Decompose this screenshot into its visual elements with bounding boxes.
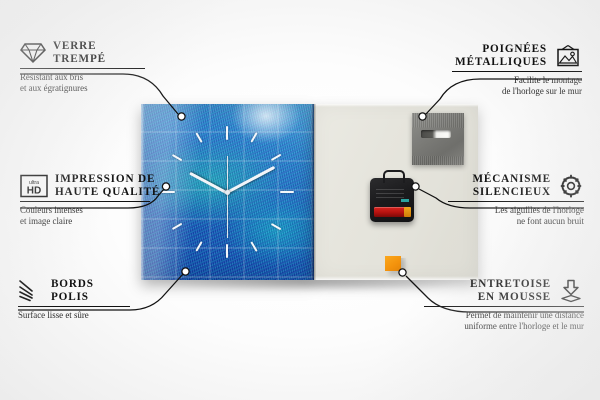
callout-sub-line1: Surface lisse et sûre	[18, 310, 130, 321]
callout-rule	[448, 201, 584, 202]
callout-header: ultra HD IMPRESSION DE HAUTE QUALITÉ	[20, 173, 150, 198]
metal-hanger-bracket	[412, 113, 464, 165]
callout-verre-trempe[interactable]: VERRE TREMPÉ Résistant aux bris et aux é…	[20, 40, 145, 94]
dial-tick	[226, 126, 229, 140]
callout-bords-polis[interactable]: BORDS POLIS Surface lisse et sûre	[18, 278, 130, 321]
callout-sub-line1: Résistant aux bris	[20, 72, 145, 83]
panel-seam	[314, 104, 316, 280]
dial-tick	[161, 191, 175, 194]
callout-sub-line1: Couleurs intenses	[20, 205, 150, 216]
mechanism-hanging-loop	[383, 170, 405, 183]
callout-title-line2: SILENCIEUX	[472, 186, 551, 199]
callout-sub-line2: ne font aucun bruit	[448, 216, 584, 227]
callout-title-line1: VERRE	[53, 40, 106, 53]
callout-rule	[424, 306, 584, 307]
callout-rule	[20, 68, 145, 69]
gear-icon	[558, 174, 584, 198]
infographic-canvas: VERRE TREMPÉ Résistant aux bris et aux é…	[0, 0, 600, 400]
callout-impression-haute-qualite[interactable]: ultra HD IMPRESSION DE HAUTE QUALITÉ Cou…	[20, 173, 150, 227]
clock-second-hand	[227, 156, 228, 238]
clock-center-cap	[225, 190, 230, 195]
callout-header: BORDS POLIS	[18, 278, 130, 303]
product-image	[141, 104, 478, 280]
callout-sub-line1: Facilite le montage	[452, 75, 582, 86]
callout-sub-line2: uniforme entre l'horloge et le mur	[424, 321, 584, 332]
polished-edges-icon	[18, 280, 44, 302]
ultra-hd-icon: ultra HD	[20, 174, 48, 198]
foam-spacer-side	[401, 258, 406, 273]
callout-mecanisme-silencieux[interactable]: MÉCANISME SILENCIEUX Les aiguilles de l'…	[448, 173, 584, 227]
callout-rule	[452, 71, 582, 72]
diamond-icon	[20, 42, 46, 64]
callout-header: VERRE TREMPÉ	[20, 40, 145, 65]
callout-title-line1: ENTRETOISE	[470, 278, 551, 291]
mechanism-label	[376, 189, 404, 201]
callout-poignees-metalliques[interactable]: POIGNÉES MÉTALLIQUES Facilite le montage…	[452, 43, 582, 97]
svg-text:HD: HD	[27, 185, 41, 196]
battery	[374, 207, 408, 217]
callout-sub-line2: et image claire	[20, 216, 150, 227]
callout-title-line2: TREMPÉ	[53, 53, 106, 66]
clock-mechanism	[370, 178, 414, 222]
panel-top-bevel	[314, 104, 478, 107]
callout-title-line2: POLIS	[51, 291, 94, 304]
picture-hanger-icon	[554, 44, 582, 68]
callout-sub-line1: Les aiguilles de l'horloge	[448, 205, 584, 216]
callout-title-line2: HAUTE QUALITÉ	[55, 186, 160, 199]
callout-header: ENTRETOISE EN MOUSSE	[424, 278, 584, 303]
callout-title-line1: IMPRESSION DE	[55, 173, 160, 186]
clock-front-face	[141, 104, 314, 280]
callout-title-line1: MÉCANISME	[472, 173, 551, 186]
dial-glare	[231, 104, 301, 144]
foam-spacer-icon	[558, 279, 584, 303]
callout-sub-line2: de l'horloge sur le mur	[452, 86, 582, 97]
callout-sub-line1: Permet de maintenir une distance	[424, 310, 584, 321]
callout-entretoise-en-mousse[interactable]: ENTRETOISE EN MOUSSE Permet de maintenir…	[424, 278, 584, 332]
mechanism-teal-marking	[401, 199, 409, 202]
callout-title-line2: MÉTALLIQUES	[455, 56, 547, 69]
dial-tick	[226, 244, 229, 258]
callout-rule	[18, 306, 130, 307]
callout-sub-line2: et aux égratignures	[20, 83, 145, 94]
callout-rule	[20, 201, 150, 202]
battery-positive-terminal	[404, 207, 411, 217]
callout-header: MÉCANISME SILENCIEUX	[448, 173, 584, 198]
callout-title-line2: EN MOUSSE	[470, 291, 551, 304]
hanger-keyhole-slot	[421, 130, 451, 138]
callout-header: POIGNÉES MÉTALLIQUES	[452, 43, 582, 68]
dial-tick	[280, 191, 294, 194]
callout-title-line1: BORDS	[51, 278, 94, 291]
foam-spacer	[385, 256, 401, 271]
callout-title-line1: POIGNÉES	[455, 43, 547, 56]
